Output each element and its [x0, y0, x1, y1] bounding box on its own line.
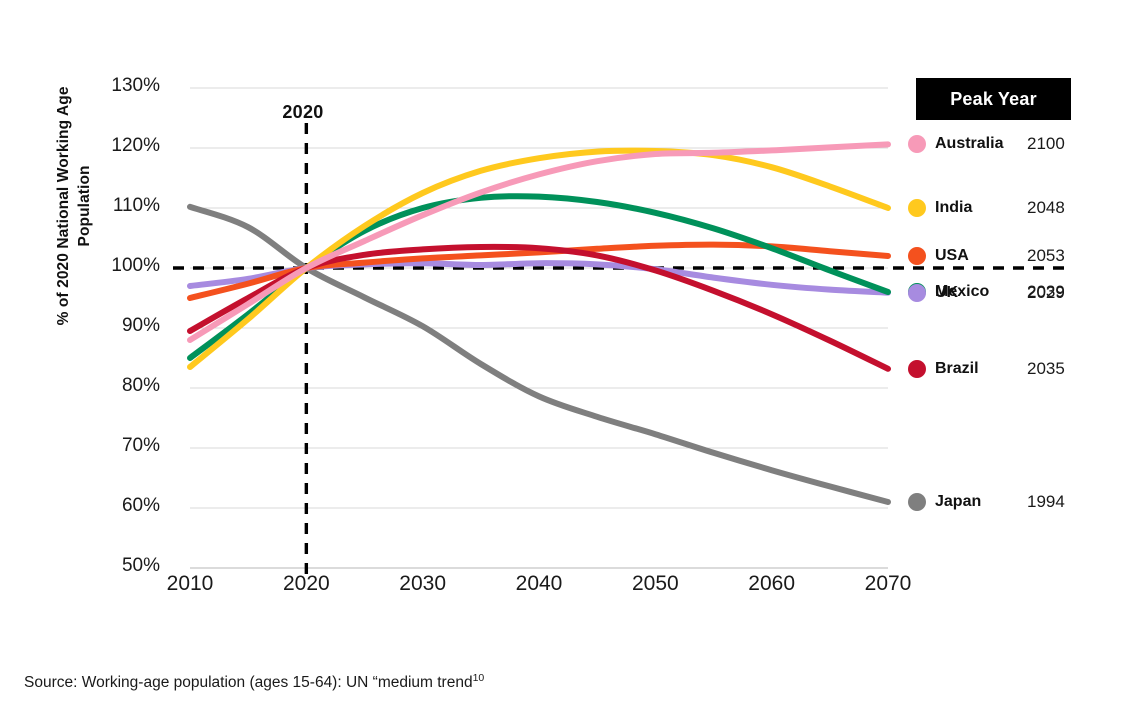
x-tick-label-2040: 2040 [479, 572, 599, 596]
y-tick-label-60: 60% [70, 495, 160, 517]
legend-color-dot-uk [908, 284, 926, 302]
legend-peak-year: 1994 [1027, 492, 1065, 512]
legend-series-name: USA [935, 247, 1027, 265]
legend-item-india[interactable]: India2048 [908, 197, 1108, 219]
legend-color-dot-brazil [908, 360, 926, 378]
source-text: Source: Working-age population (ages 15-… [24, 674, 473, 691]
series-line-australia [190, 144, 888, 340]
legend-peak-year: 2029 [1027, 283, 1065, 303]
x-tick-label-2070: 2070 [828, 572, 948, 596]
legend-series-name: Japan [935, 493, 1027, 511]
x-tick-label-2050: 2050 [595, 572, 715, 596]
legend-color-dot-usa [908, 247, 926, 265]
x-tick-label-2020: 2020 [246, 572, 366, 596]
legend-peak-year: 2035 [1027, 359, 1065, 379]
legend-peak-year: 2053 [1027, 246, 1065, 266]
x-tick-label-2030: 2030 [363, 572, 483, 596]
legend-color-dot-australia [908, 135, 926, 153]
legend-series-name: Australia [935, 135, 1027, 153]
legend-color-dot-india [908, 199, 926, 217]
x-axis-tick-labels: 2010202020302040205020602070 [0, 572, 1128, 612]
x-tick-label-2060: 2060 [712, 572, 832, 596]
source-note: Source: Working-age population (ages 15-… [24, 672, 484, 692]
legend-peak-year: 2048 [1027, 198, 1065, 218]
legend-item-australia[interactable]: Australia2100 [908, 133, 1108, 155]
legend-item-usa[interactable]: USA2053 [908, 245, 1108, 267]
legend-item-japan[interactable]: Japan1994 [908, 491, 1108, 513]
annotation-2020: 2020 [243, 102, 363, 123]
legend-series-name: Brazil [935, 360, 1027, 378]
legend-series-name: UK [935, 284, 1027, 302]
chart-page: 50%60%70%80%90%100%110%120%130% 20102020… [0, 0, 1128, 708]
legend: Peak Year Australia2100India2048USA2053M… [908, 78, 1108, 538]
legend-color-dot-japan [908, 493, 926, 511]
y-tick-label-80: 80% [70, 375, 160, 397]
legend-series-name: India [935, 199, 1027, 217]
y-axis-title: % of 2020 National Working Age Populatio… [54, 56, 96, 356]
legend-header: Peak Year [916, 78, 1071, 120]
legend-item-brazil[interactable]: Brazil2035 [908, 358, 1108, 380]
y-tick-label-70: 70% [70, 435, 160, 457]
legend-peak-year: 2100 [1027, 134, 1065, 154]
legend-item-uk[interactable]: UK2029 [908, 282, 1108, 304]
source-footnote-marker: 10 [473, 672, 485, 684]
x-tick-label-2010: 2010 [130, 572, 250, 596]
